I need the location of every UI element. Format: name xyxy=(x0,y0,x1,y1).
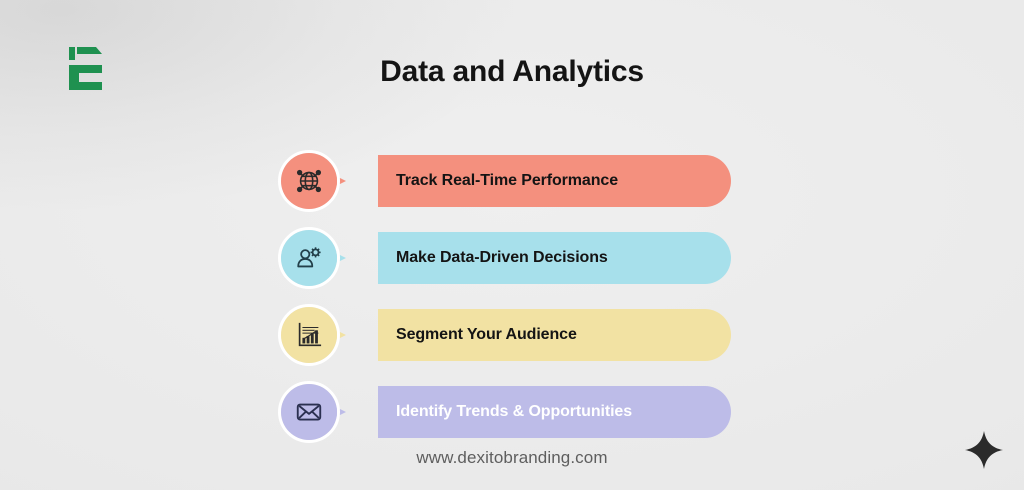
user-settings-icon xyxy=(294,243,324,273)
list-item-label: Track Real-Time Performance xyxy=(396,172,618,190)
badge xyxy=(278,227,340,289)
feature-list: Track Real-Time Performance xyxy=(0,150,1024,458)
envelope-icon xyxy=(294,397,324,427)
globe-network-icon xyxy=(294,166,324,196)
feature-pill[interactable]: Segment Your Audience xyxy=(378,309,731,361)
badge-fill xyxy=(281,307,337,363)
badge-fill xyxy=(281,153,337,209)
feature-pill[interactable]: Make Data-Driven Decisions xyxy=(378,232,731,284)
list-item-label: Make Data-Driven Decisions xyxy=(396,249,608,267)
list-item[interactable]: Track Real-Time Performance xyxy=(0,150,1024,227)
badge xyxy=(278,381,340,443)
badge-fill xyxy=(281,230,337,286)
page-title: Data and Analytics xyxy=(0,55,1024,89)
list-item[interactable]: Make Data-Driven Decisions xyxy=(0,227,1024,304)
slide-canvas: Data and Analytics xyxy=(0,0,1024,490)
feature-pill[interactable]: Identify Trends & Opportunities xyxy=(378,386,731,438)
badge xyxy=(278,304,340,366)
badge xyxy=(278,150,340,212)
list-item[interactable]: Segment Your Audience xyxy=(0,304,1024,381)
feature-pill[interactable]: Track Real-Time Performance xyxy=(378,155,731,207)
list-item-label: Segment Your Audience xyxy=(396,326,577,344)
bar-chart-icon xyxy=(294,320,324,350)
list-item-label: Identify Trends & Opportunities xyxy=(396,403,632,421)
four-point-sparkle-icon xyxy=(962,428,1006,472)
badge-fill xyxy=(281,384,337,440)
footer-url[interactable]: www.dexitobranding.com xyxy=(0,448,1024,468)
list-item[interactable]: Identify Trends & Opportunities xyxy=(0,381,1024,458)
